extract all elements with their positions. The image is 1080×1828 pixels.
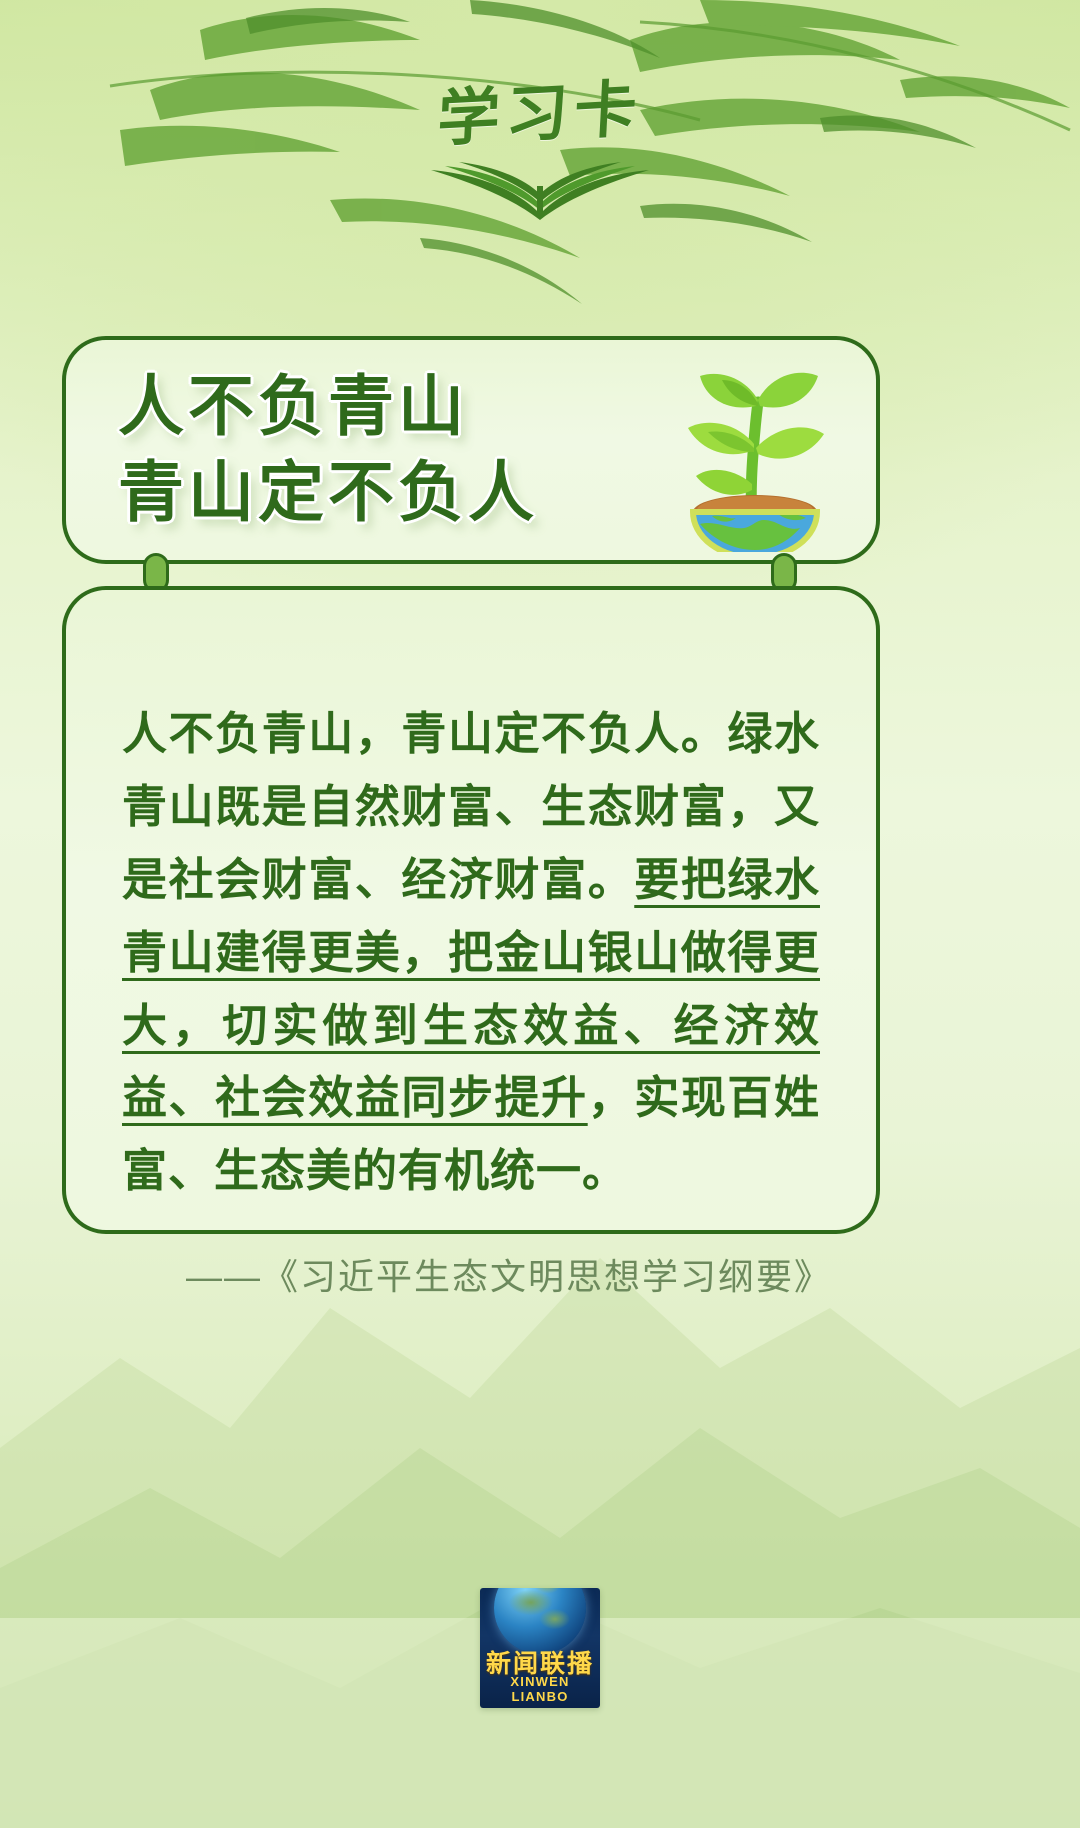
brand-logo-text: 学习卡 [436, 79, 644, 152]
xinwen-lianbo-logo: 新闻联播 XINWEN LIANBO [480, 1588, 600, 1708]
open-book-icon [425, 152, 655, 227]
poster-root: 学习卡 人不负青山 青山定不负人 [0, 0, 1080, 1828]
page-title: 人不负青山 青山定不负人 [66, 364, 538, 536]
quote-text: 人不负青山，青山定不负人。绿水青山既是自然财富、生态财富，又是社会财富、经济财富… [66, 590, 876, 1208]
logo-pinyin-text: XINWEN LIANBO [480, 1674, 600, 1704]
quote-attribution: ——《习近平生态文明思想学习纲要》 [66, 1248, 876, 1300]
brand-logo: 学习卡 [0, 84, 1080, 227]
quote-card: 人不负青山，青山定不负人。绿水青山既是自然财富、生态财富，又是社会财富、经济财富… [62, 586, 880, 1234]
sprout-in-earth-bowl-icon [660, 352, 850, 552]
headline-card: 人不负青山 青山定不负人 [62, 336, 880, 564]
